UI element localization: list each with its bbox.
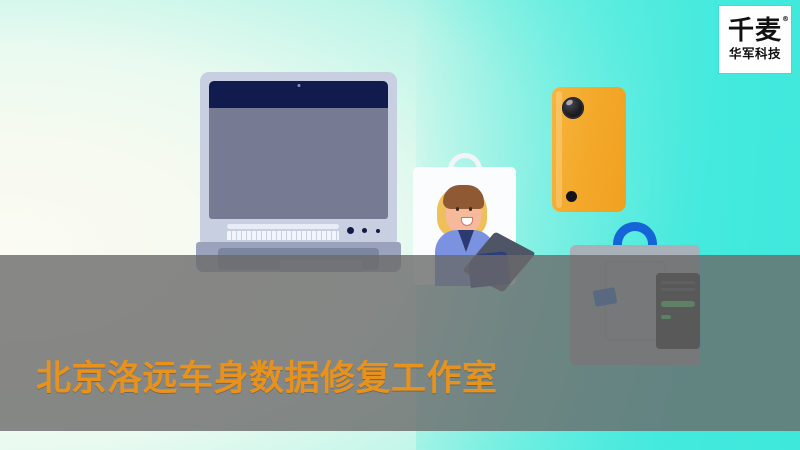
logo-main-label: 千麦 <box>728 16 782 46</box>
hair-front <box>443 185 484 209</box>
qianmai-watermark-logo: 千麦 ® 华军科技 <box>719 6 791 73</box>
eye-left <box>456 207 459 211</box>
lens-glint <box>565 99 574 107</box>
keyboard-keys <box>227 231 339 240</box>
camera-lens-icon <box>562 97 584 119</box>
webcam-icon <box>297 84 300 87</box>
speaker-dot-small <box>376 229 380 233</box>
laptop-titlebar <box>209 81 388 108</box>
phone-button <box>566 191 577 202</box>
screenshot-stage: 北京洛远车身数据修复工作室 电话地址，北京洛远车身数据 修复工作室电话地址是多少… <box>0 0 800 450</box>
laptop-lid <box>200 72 397 244</box>
logo-main-text: 千麦 ® <box>728 18 782 44</box>
laptop-illustration <box>196 72 401 272</box>
caption-text: 北京洛远车身数据修复工作室 电话地址，北京洛远车身数据 修复工作室电话地址是多少 <box>36 272 764 450</box>
keyboard-top-bar <box>227 224 339 229</box>
speaker-dot-large <box>347 227 354 234</box>
yellow-smartphone <box>552 87 626 212</box>
eye-right <box>469 207 472 211</box>
logo-sub-label: 华军科技 <box>729 48 781 61</box>
laptop-keyboard <box>209 224 388 240</box>
caption-line-1: 北京洛远车身数据修复工作室 <box>36 358 764 401</box>
speaker-dot-medium <box>362 228 367 233</box>
registered-trademark-icon: ® <box>782 16 790 23</box>
laptop-screen <box>209 108 388 219</box>
